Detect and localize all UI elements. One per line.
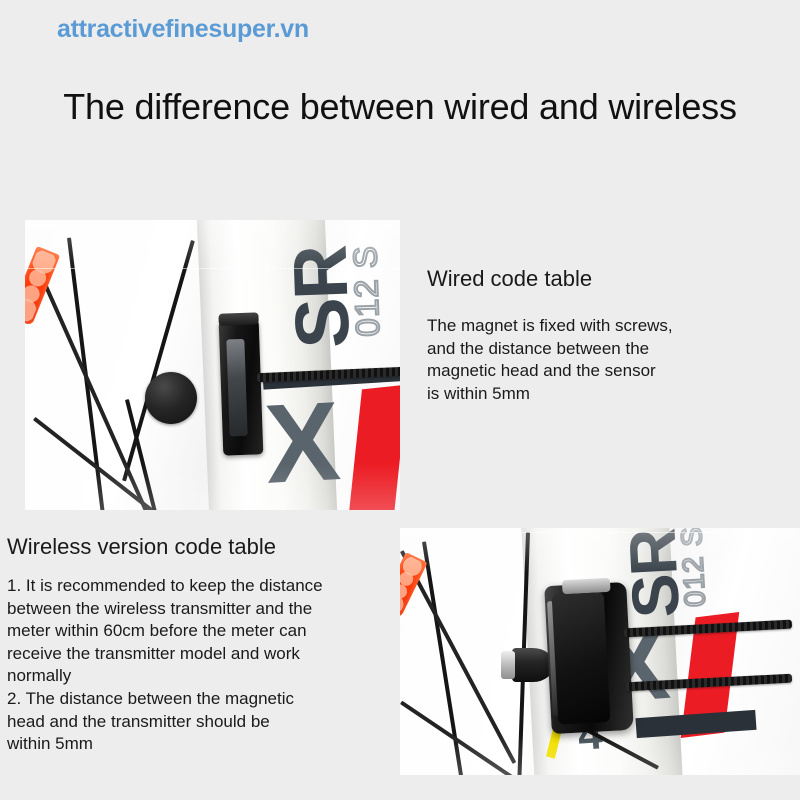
wired-panel-body: The magnet is fixed with screws, and the…	[427, 315, 777, 405]
wireless-panel-heading: Wireless version code table	[7, 534, 276, 560]
wheel-magnet	[145, 372, 197, 424]
spoke-reflector	[25, 246, 60, 326]
fork-model-text: 012 S	[346, 245, 387, 338]
transmitter-top-cap	[562, 578, 610, 594]
fork-model-text: 012 S	[676, 528, 713, 608]
spoke-reflector	[400, 552, 428, 618]
wheel-spoke	[122, 240, 195, 481]
wired-panel-heading: Wired code table	[427, 266, 592, 292]
infographic-page: attractivefinesuper.vn The difference be…	[0, 0, 800, 800]
wired-sensor-body	[219, 319, 264, 455]
wheel-spoke	[400, 701, 527, 775]
wired-photo-scene: SR 012 S X	[25, 220, 400, 510]
wired-sensor-photo: SR 012 S X	[25, 220, 400, 510]
sensor-cap	[218, 312, 258, 325]
wireless-photo-scene: SR 012 S X 4	[400, 528, 800, 775]
site-watermark: attractivefinesuper.vn	[57, 15, 309, 44]
fork-red-stripe	[348, 385, 400, 510]
magnet-mount	[501, 651, 515, 679]
transmitter-face	[551, 592, 610, 725]
sensor-lens	[226, 339, 247, 437]
wireless-transmitter-photo: SR 012 S X 4	[400, 528, 800, 775]
fork-x-mark: X	[262, 376, 343, 509]
wireless-panel-body: 1. It is recommended to keep the distanc…	[7, 575, 397, 756]
page-title: The difference between wired and wireles…	[0, 86, 800, 128]
wireless-transmitter-body	[544, 582, 634, 734]
